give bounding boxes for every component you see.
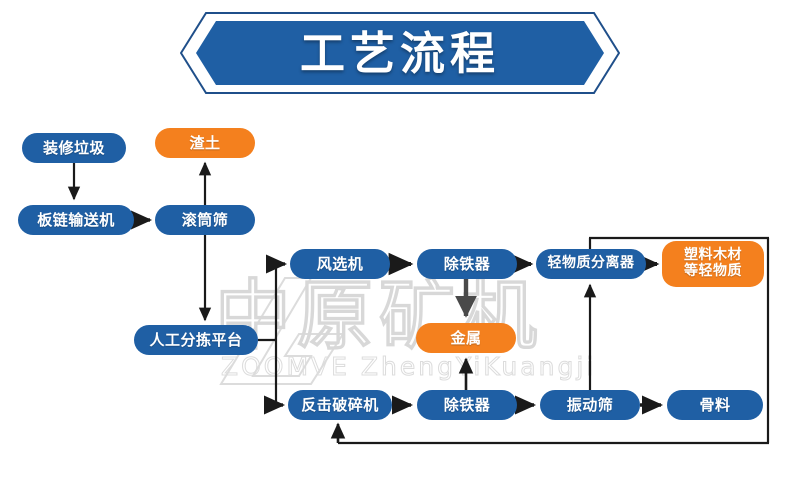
node-label: 渣土 — [189, 135, 220, 152]
node-manual-sorting-platform[interactable]: 人工分拣平台 — [134, 325, 258, 355]
node-label: 装修垃圾 — [43, 140, 105, 157]
node-vibrating-screen[interactable]: 振动筛 — [540, 390, 640, 420]
node-label: 骨料 — [699, 397, 730, 414]
node-decoration-waste[interactable]: 装修垃圾 — [22, 133, 126, 163]
node-air-separator[interactable]: 风选机 — [290, 249, 390, 279]
node-label: 板链输送机 — [37, 212, 115, 229]
node-label: 塑料木材 等轻物质 — [684, 248, 742, 279]
node-label: 金属 — [450, 330, 481, 347]
node-label: 振动筛 — [567, 397, 614, 414]
node-plate-chain-conveyor[interactable]: 板链输送机 — [18, 205, 134, 235]
node-label: 轻物质分离器 — [548, 256, 635, 272]
node-iron-remover-top[interactable]: 除铁器 — [417, 249, 517, 279]
edge-manual-branch — [258, 264, 285, 405]
node-slag-soil[interactable]: 渣土 — [155, 128, 255, 158]
node-light-materials-output[interactable]: 塑料木材 等轻物质 — [662, 241, 764, 287]
node-aggregate-output[interactable]: 骨料 — [667, 390, 763, 420]
node-trommel-screen[interactable]: 滚筒筛 — [155, 205, 255, 235]
node-metal-output[interactable]: 金属 — [416, 323, 516, 353]
node-label: 除铁器 — [444, 397, 491, 414]
node-label: 风选机 — [317, 256, 364, 273]
process-flow-diagram: 工艺流程 中原矿机 ZOOMVE ZhengYiKuangji — [0, 0, 800, 477]
node-iron-remover-bottom[interactable]: 除铁器 — [417, 390, 517, 420]
node-label: 反击破碎机 — [301, 397, 379, 414]
node-label: 人工分拣平台 — [149, 332, 242, 349]
node-label: 滚筒筛 — [182, 212, 229, 229]
node-impact-crusher[interactable]: 反击破碎机 — [288, 390, 392, 420]
node-light-material-separator[interactable]: 轻物质分离器 — [536, 249, 646, 279]
node-label: 除铁器 — [444, 256, 491, 273]
